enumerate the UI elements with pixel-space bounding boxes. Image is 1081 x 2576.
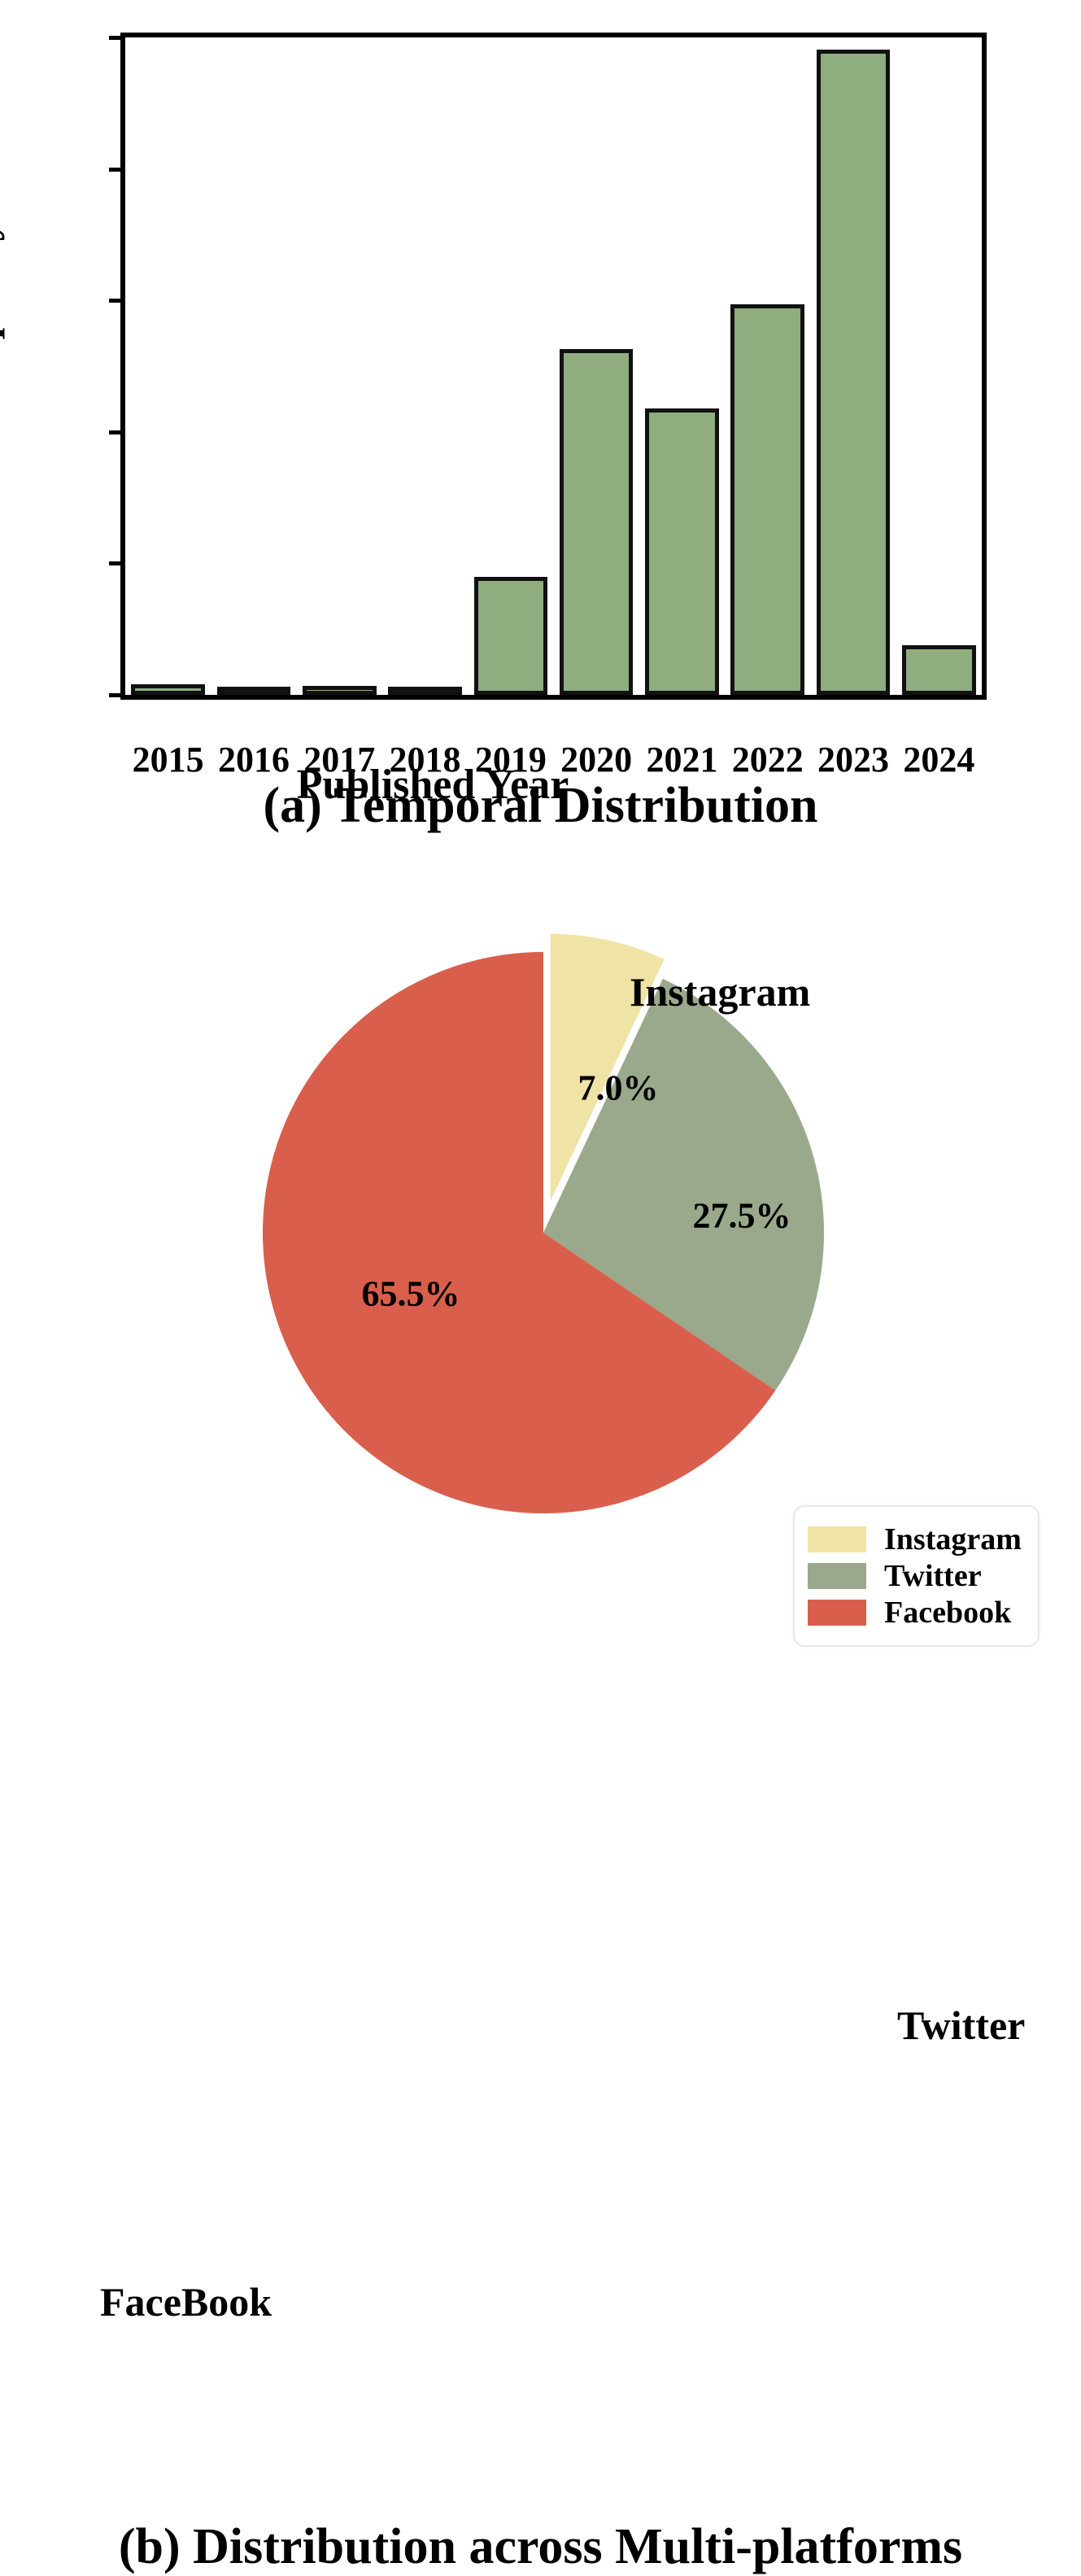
bar-rect-2018 [388,687,462,695]
y-tick-mark [109,430,120,434]
pie-percent-twitter: 27.5% [693,1195,791,1237]
y-tick-mark [109,693,120,697]
figure-page: Frequency 0100200300400500 2015201620172… [0,0,1081,1737]
x-tick-label-2021: 2021 [646,742,717,778]
y-tick-mark [109,36,120,40]
bar-rect-2017 [303,686,377,695]
bar-2019 [474,577,548,695]
x-tick-label-2016: 2016 [218,742,290,778]
bar-2022 [730,304,804,695]
pie-label-twitter: Twitter [897,2002,1025,2049]
panel-b-platform-distribution: 7.0% 27.5% 65.5% Instagram Twitter FaceB… [0,862,1081,1737]
x-tick-label-2023: 2023 [817,742,889,778]
legend-item-instagram[interactable]: Instagram [808,1524,1022,1555]
legend-swatch-instagram [808,1526,866,1552]
legend-swatch-twitter [808,1563,866,1589]
bar-rect-2022 [730,304,804,695]
x-tick-label-2022: 2022 [732,742,804,778]
legend-item-twitter[interactable]: Twitter [808,1561,1022,1591]
pie-label-facebook: FaceBook [100,2278,272,2325]
y-tick-mark [109,561,120,565]
bar-rect-2019 [474,577,548,695]
bar-2017 [303,686,377,695]
x-tick-label-2015: 2015 [133,742,204,778]
pie-legend: Instagram Twitter Facebook [793,1505,1040,1647]
bar-2016 [217,688,291,695]
legend-label-twitter: Twitter [884,1561,982,1591]
legend-label-instagram: Instagram [884,1524,1022,1555]
pie-chart-svg [0,862,1081,1611]
bar-rect-2020 [560,349,634,695]
pie-percent-facebook: 65.5% [362,1273,460,1315]
bar-chart-plot-area: 0100200300400500 20152016201720182019202… [120,33,987,700]
bar-rect-2023 [817,50,891,695]
pie-percent-instagram: 7.0% [578,1068,659,1109]
y-axis-label: Frequency [0,220,7,415]
panel-b-caption: (b) Distribution across Multi-platforms [0,2518,1081,2576]
bar-2021 [645,408,719,695]
bar-2015 [131,684,205,695]
pie-chart-area: 7.0% 27.5% 65.5% Instagram Twitter FaceB… [0,862,1081,1611]
bar-2020 [560,349,634,695]
bar-rect-2015 [131,684,205,695]
y-tick-mark [109,168,120,172]
panel-a-temporal-distribution: Frequency 0100200300400500 2015201620172… [0,0,1081,814]
bar-2018 [388,688,462,695]
bar-2024 [902,645,976,695]
panel-a-caption: (a) Temporal Distribution [0,777,1081,835]
legend-label-facebook: Facebook [884,1597,1011,1628]
legend-item-facebook[interactable]: Facebook [808,1597,1022,1628]
bar-rect-2024 [902,645,976,695]
x-tick-label-2020: 2020 [560,742,632,778]
bar-2023 [817,50,891,695]
pie-label-instagram: Instagram [630,968,810,1015]
legend-swatch-facebook [808,1600,866,1626]
y-tick-mark [109,299,120,303]
x-tick-label-2024: 2024 [903,742,974,778]
bar-rect-2016 [217,687,291,695]
bar-rect-2021 [645,408,719,695]
